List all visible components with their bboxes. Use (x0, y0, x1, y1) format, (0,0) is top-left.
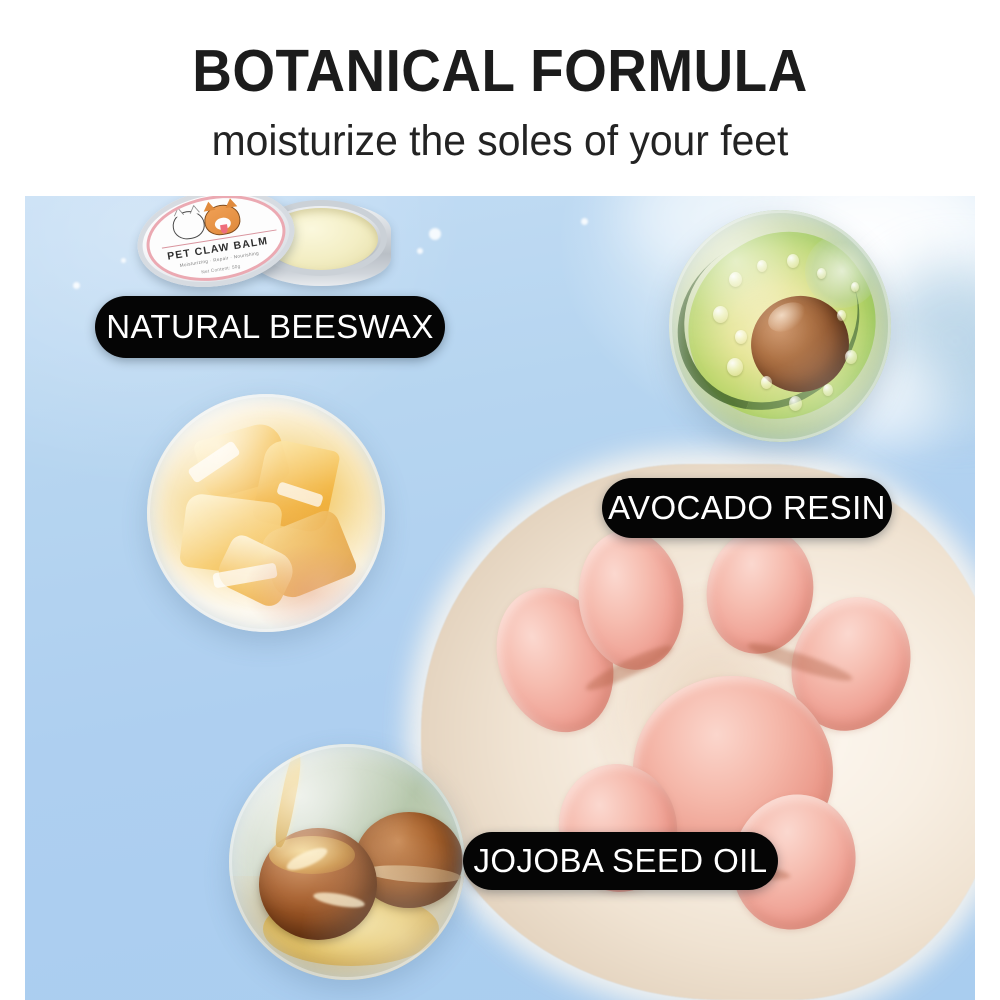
dog-tongue (220, 224, 228, 234)
avocado-texture (805, 234, 879, 308)
water-droplet (837, 310, 846, 321)
header-block: BOTANICAL FORMULA moisturize the soles o… (0, 0, 1000, 196)
water-droplet (735, 330, 747, 344)
beeswax-sphere (147, 394, 385, 632)
beeswax-warm-tint (243, 544, 373, 632)
water-droplet (757, 260, 767, 272)
jojoba-sphere (229, 744, 465, 980)
shiba-dog-illustration-icon (202, 202, 242, 237)
avocado-sphere (669, 210, 891, 442)
water-droplet (817, 268, 826, 279)
page-title: BOTANICAL FORMULA (35, 40, 965, 102)
water-droplet (729, 272, 742, 287)
water-droplet (789, 396, 802, 411)
sparkle-dot (73, 282, 80, 289)
ingredient-label-avocado: AVOCADO RESIN (602, 478, 892, 538)
cat-illustration-icon (171, 209, 207, 242)
sparkle-dot (429, 228, 441, 240)
page-subtitle: moisturize the soles of your feet (25, 116, 975, 166)
product-banner: BOTANICAL FORMULA moisturize the soles o… (0, 0, 1000, 1000)
product-photo-stage: PET CLAW BALM Moisturizing · Repair · No… (25, 196, 975, 1000)
water-droplet (727, 358, 743, 376)
sparkle-dot (121, 258, 126, 263)
ingredient-label-jojoba: JOJOBA SEED OIL (463, 832, 778, 890)
water-droplet (761, 376, 772, 389)
ingredient-label-beeswax: NATURAL BEESWAX (95, 296, 445, 358)
product-tin: PET CLAW BALM Moisturizing · Repair · No… (133, 196, 393, 293)
water-droplet (845, 350, 857, 364)
sparkle-dot (417, 248, 423, 254)
tin-lid: PET CLAW BALM Moisturizing · Repair · No… (130, 196, 301, 298)
water-droplet (823, 384, 833, 396)
water-droplet (713, 306, 728, 323)
water-droplet (851, 282, 859, 292)
cat-paw-photo (421, 464, 975, 1000)
bokeh-highlight (880, 266, 975, 416)
sparkle-dot (581, 218, 588, 225)
water-droplet (787, 254, 799, 268)
